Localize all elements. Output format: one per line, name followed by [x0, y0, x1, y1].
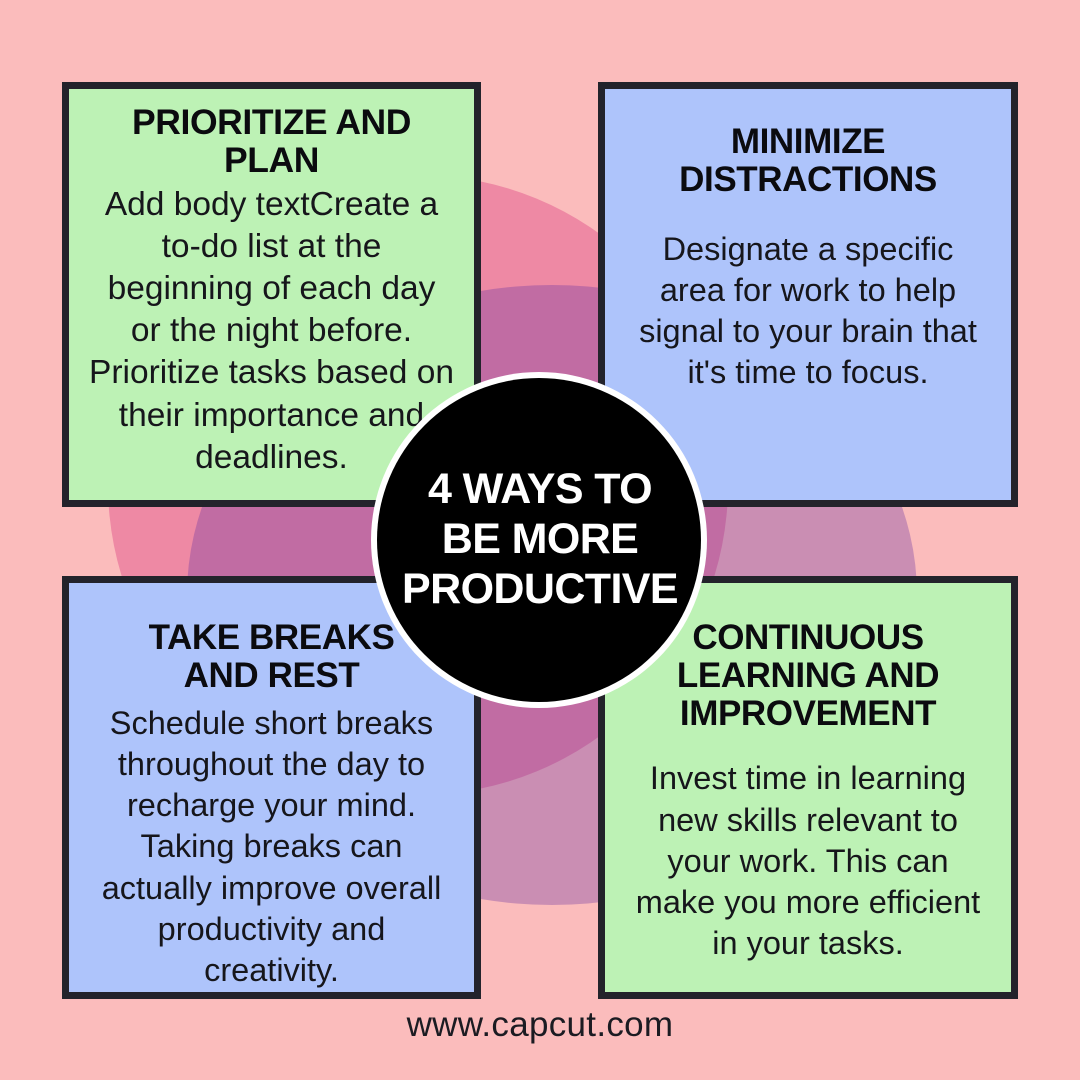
center-badge-title: 4 WAYS TO BE MORE PRODUCTIVE: [379, 465, 701, 615]
footer: www.capcut.com: [0, 1005, 1080, 1045]
card-title-take-breaks-and-rest: TAKE BREAKS AND REST: [85, 619, 458, 695]
card-body-take-breaks-and-rest: Schedule short breaks throughout the day…: [85, 703, 458, 992]
center-badge: 4 WAYS TO BE MORE PRODUCTIVE: [377, 378, 701, 702]
card-title-minimize-distractions: MINIMIZE DISTRACTIONS: [621, 123, 995, 199]
card-title-prioritize-and-plan: PRIORITIZE AND PLAN: [85, 103, 458, 180]
card-body-minimize-distractions: Designate a specific area for work to he…: [621, 229, 995, 394]
card-title-continuous-learning-and-improvement: CONTINUOUS LEARNING AND IMPROVEMENT: [621, 619, 995, 732]
card-body-prioritize-and-plan: Add body textCreate a to-do list at the …: [85, 184, 458, 479]
card-body-continuous-learning-and-improvement: Invest time in learning new skills relev…: [621, 758, 995, 964]
infographic-poster: PRIORITIZE AND PLAN Add body textCreate …: [0, 0, 1080, 1080]
footer-url: www.capcut.com: [407, 1005, 674, 1044]
